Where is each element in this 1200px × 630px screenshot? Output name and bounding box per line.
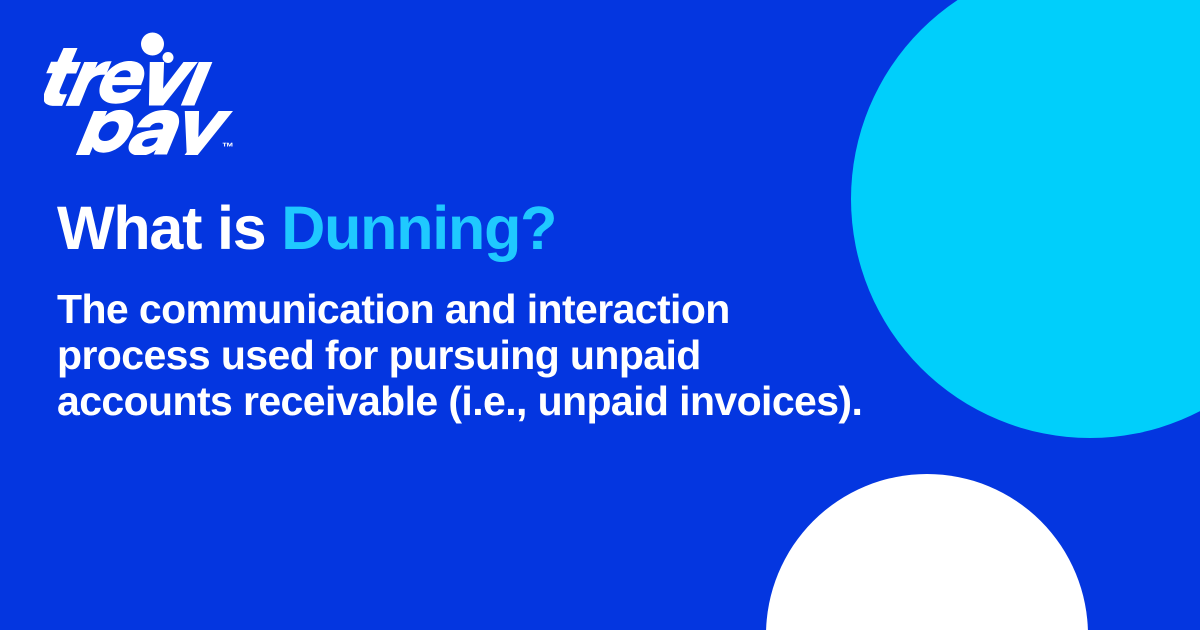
- headline-lead: What is: [57, 194, 281, 262]
- description-line: accounts receivable (i.e., unpaid invoic…: [57, 378, 887, 424]
- decorative-cyan-circle: [851, 0, 1200, 438]
- logo-dot-small: [163, 52, 174, 63]
- logo-dot-large: [141, 33, 164, 56]
- headline-accent: Dunning?: [281, 194, 556, 262]
- description-line: process used for pursuing unpaid: [57, 332, 887, 378]
- trademark-symbol: ™: [222, 140, 234, 154]
- promo-card: ™ What is Dunning? The communication and…: [0, 0, 1200, 630]
- trevipay-logo: ™: [44, 30, 244, 155]
- text-content: What is Dunning? The communication and i…: [57, 196, 887, 424]
- description-line: The communication and interaction: [57, 286, 887, 332]
- decorative-white-circle: [766, 474, 1088, 630]
- page-description: The communication and interaction proces…: [57, 260, 887, 424]
- page-title: What is Dunning?: [57, 196, 887, 260]
